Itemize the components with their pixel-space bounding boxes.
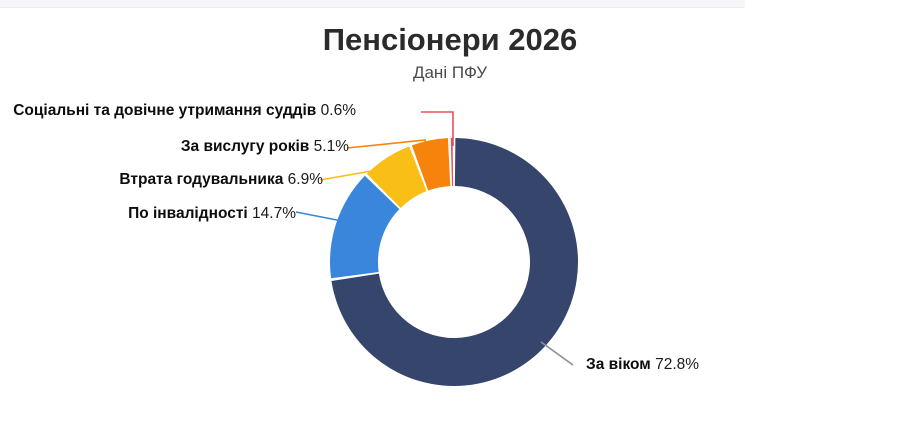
slice-label-disability-pct: 14.7% [252,205,296,222]
slice-label-breadwinner-pct: 6.9% [288,171,323,188]
leader-line-age [541,342,573,365]
slice-label-age-pct: 72.8% [655,356,699,373]
slice-label-judges-pct: 0.6% [321,102,356,119]
slice-label-breadwinner: Втрата годувальника 6.9% [119,172,323,188]
slice-label-service-pct: 5.1% [314,138,349,155]
slice-label-breadwinner-name: Втрата годувальника [119,171,283,188]
slice-label-service-name: За вислугу років [181,138,310,155]
chart-container: Пенсіонери 2026 Дані ПФУ Соціальні та до… [0,0,900,431]
donut-slices [330,138,578,386]
slice-label-disability: По інвалідності 14.7% [128,206,296,222]
slice-label-age-name: За віком [586,356,651,373]
slice-label-age: За віком 72.8% [586,357,699,373]
slice-label-judges-name: Соціальні та довічне утримання суддів [13,102,316,119]
slice-label-disability-name: По інвалідності [128,205,248,222]
slice-label-judges: Соціальні та довічне утримання суддів 0.… [13,103,356,119]
slice-label-service: За вислугу років 5.1% [181,139,349,155]
